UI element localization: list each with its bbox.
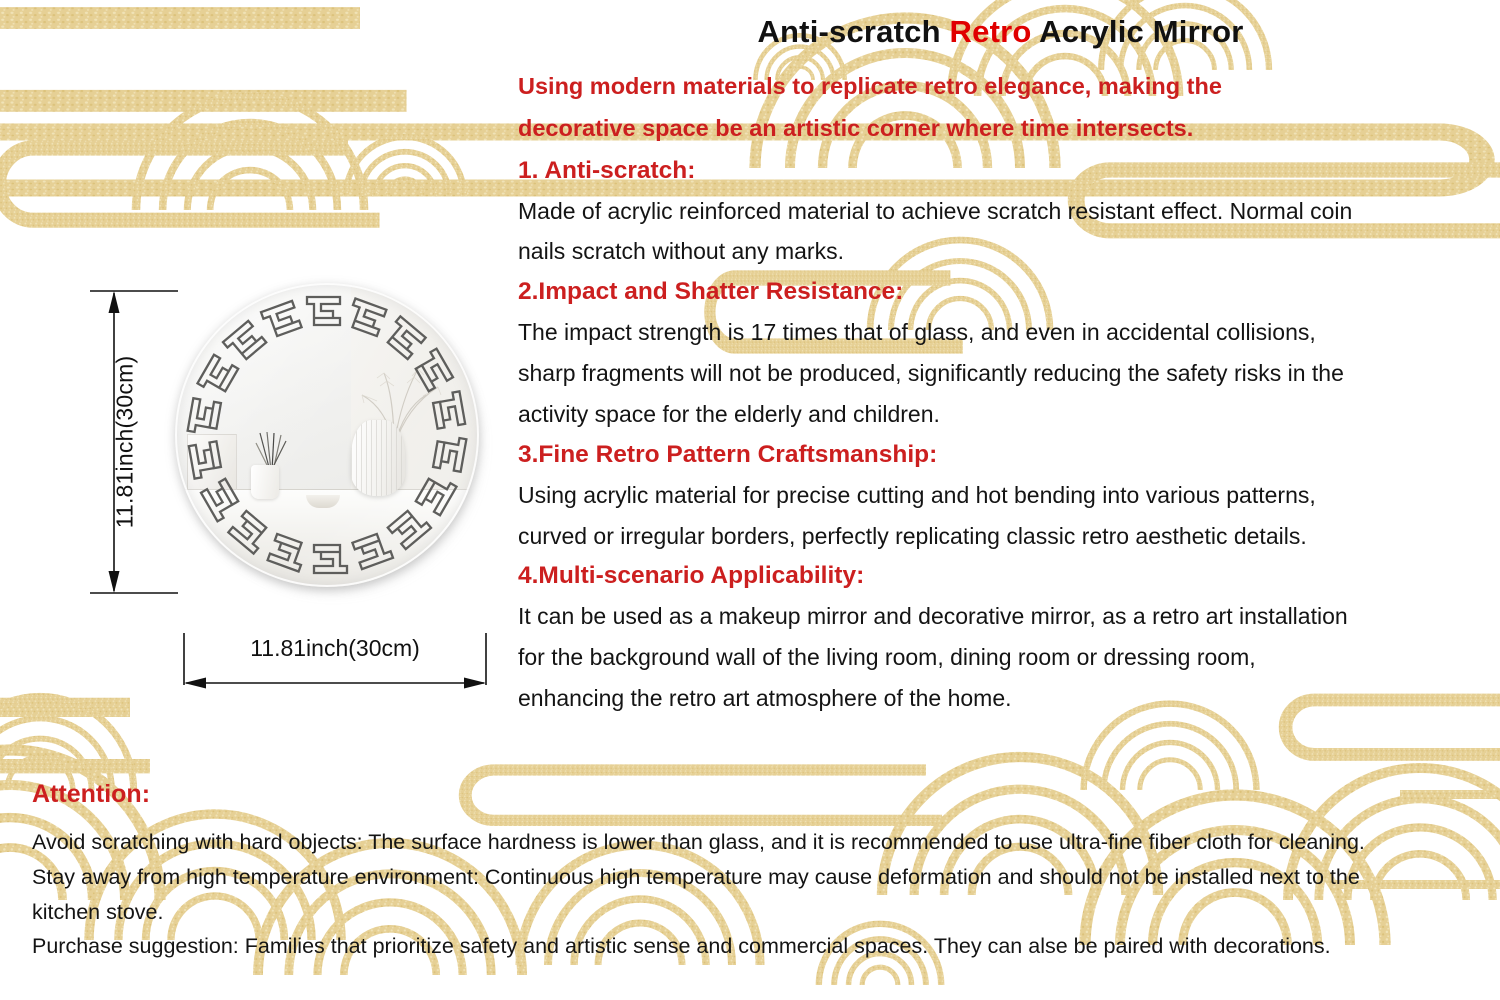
section-body-4-line-1: It can be used as a makeup mirror and de…: [518, 596, 1483, 637]
product-image-mirror: [175, 283, 485, 593]
title-part-before: Anti-scratch: [757, 14, 949, 49]
attention-line-4: Purchase suggestion: Families that prior…: [32, 929, 1472, 964]
description-column: Anti-scratch Retro Acrylic Mirror Using …: [518, 14, 1483, 719]
product-infographic: 11.81inch(30cm): [0, 0, 1500, 1000]
section-body-3-line-2: curved or irregular borders, perfectly r…: [518, 516, 1483, 557]
attention-block: Attention: Avoid scratching with hard ob…: [32, 780, 1472, 964]
section-body-2-line-1: The impact strength is 17 times that of …: [518, 312, 1483, 353]
page-title: Anti-scratch Retro Acrylic Mirror: [518, 14, 1483, 50]
decor-arcfan-upper-left-sm: [346, 137, 464, 196]
attention-line-1: Avoid scratching with hard objects: The …: [32, 825, 1472, 860]
reflected-frame: [187, 434, 237, 490]
lead-line-2: decorative space be an artistic corner w…: [518, 108, 1483, 148]
section-heading-3: 3.Fine Retro Pattern Craftsmanship:: [518, 435, 1483, 475]
section-body-4-line-2: for the background wall of the living ro…: [518, 637, 1483, 678]
decor-bar-bottom-left: [0, 708, 130, 717]
dimension-vertical: [70, 287, 180, 597]
reflected-cup: [251, 465, 279, 499]
product-dimension-figure: 11.81inch(30cm): [40, 275, 500, 705]
reflected-vase: [351, 420, 405, 496]
section-body-4-line-3: enhancing the retro art atmosphere of th…: [518, 678, 1483, 719]
mirror-disc: [175, 283, 479, 587]
section-heading-4: 4.Multi-scenario Applicability:: [518, 556, 1483, 596]
attention-line-3: kitchen stove.: [32, 895, 1472, 930]
section-body-2-line-3: activity space for the elderly and child…: [518, 394, 1483, 435]
attention-line-2: Stay away from high temperature environm…: [32, 860, 1472, 895]
section-body-1-line-2: nails scratch without any marks.: [518, 231, 1483, 272]
decor-arcfan-bottom-l3: [0, 696, 134, 790]
dimension-horizontal: [180, 633, 490, 695]
section-heading-2: 2.Impact and Shatter Resistance:: [518, 272, 1483, 312]
attention-title: Attention:: [32, 780, 1472, 809]
title-part-after: Acrylic Mirror: [1032, 14, 1244, 49]
section-body-3-line-1: Using acrylic material for precise cutti…: [518, 475, 1483, 516]
decor-hook-top-left: [0, 18, 406, 101]
decor-hook-bottom-left: [0, 705, 150, 766]
decor-arcfan-upper-left: [136, 96, 364, 210]
title-highlight: Retro: [950, 14, 1032, 49]
mirror-reflection-scene: [175, 283, 479, 587]
lead-line-1: Using modern materials to replicate retr…: [518, 66, 1483, 106]
section-body-2-line-2: sharp fragments will not be produced, si…: [518, 353, 1483, 394]
decor-hook-left-mid: [0, 148, 380, 220]
section-body-1-line-1: Made of acrylic reinforced material to a…: [518, 191, 1483, 232]
section-heading-1: 1. Anti-scratch:: [518, 151, 1483, 191]
